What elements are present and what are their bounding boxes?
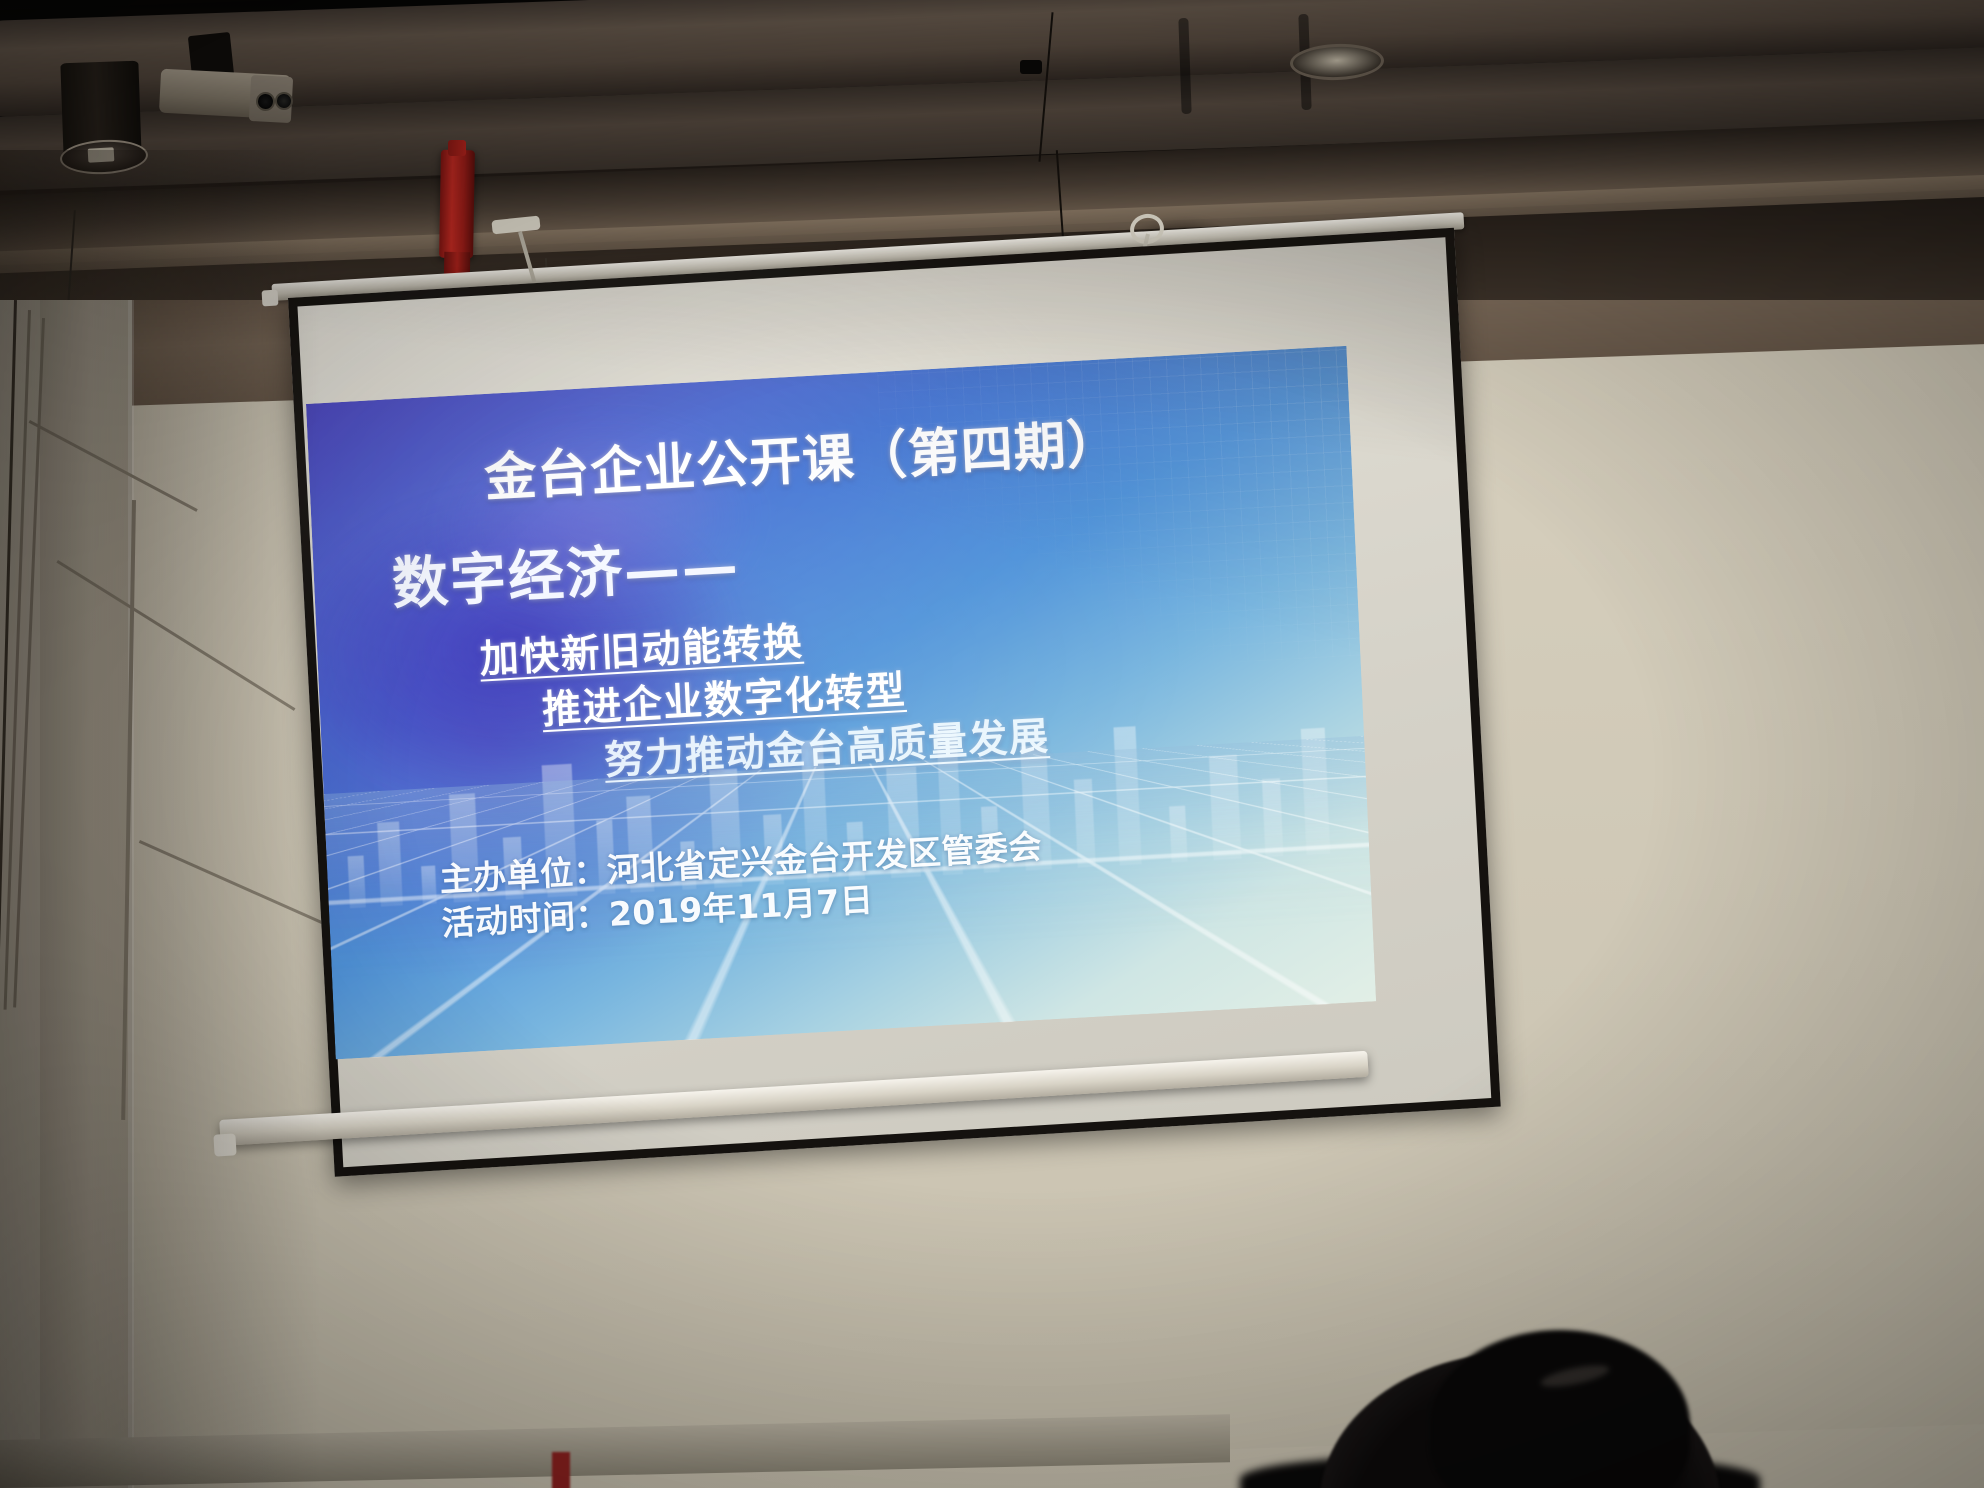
downlight-led-chip xyxy=(88,147,115,162)
fire-riser-cap xyxy=(448,140,466,156)
photo-scene: 金台企业公开课（第四期） 数字经济—— 加快新旧动能转换 推进企业数字化转型 努… xyxy=(0,0,1984,1488)
screen-rail-end-cap-left xyxy=(262,290,279,307)
ceiling-wire-clip xyxy=(1020,60,1042,74)
screen-bottom-end-cap xyxy=(213,1133,236,1156)
red-object xyxy=(552,1452,570,1488)
screen-bracket-left-plate xyxy=(491,216,540,235)
wall-column xyxy=(40,253,132,1488)
slide-text-layer: 金台企业公开课（第四期） 数字经济—— 加快新旧动能转换 推进企业数字化转型 努… xyxy=(306,346,1376,1060)
projected-slide: 金台企业公开课（第四期） 数字经济—— 加快新旧动能转换 推进企业数字化转型 努… xyxy=(306,346,1376,1060)
slide-subtitle: 数字经济—— xyxy=(390,520,741,620)
projector-screen: 金台企业公开课（第四期） 数字经济—— 加快新旧动能转换 推进企业数字化转型 努… xyxy=(200,190,1430,1200)
slide-title: 金台企业公开课（第四期） xyxy=(483,401,1121,511)
